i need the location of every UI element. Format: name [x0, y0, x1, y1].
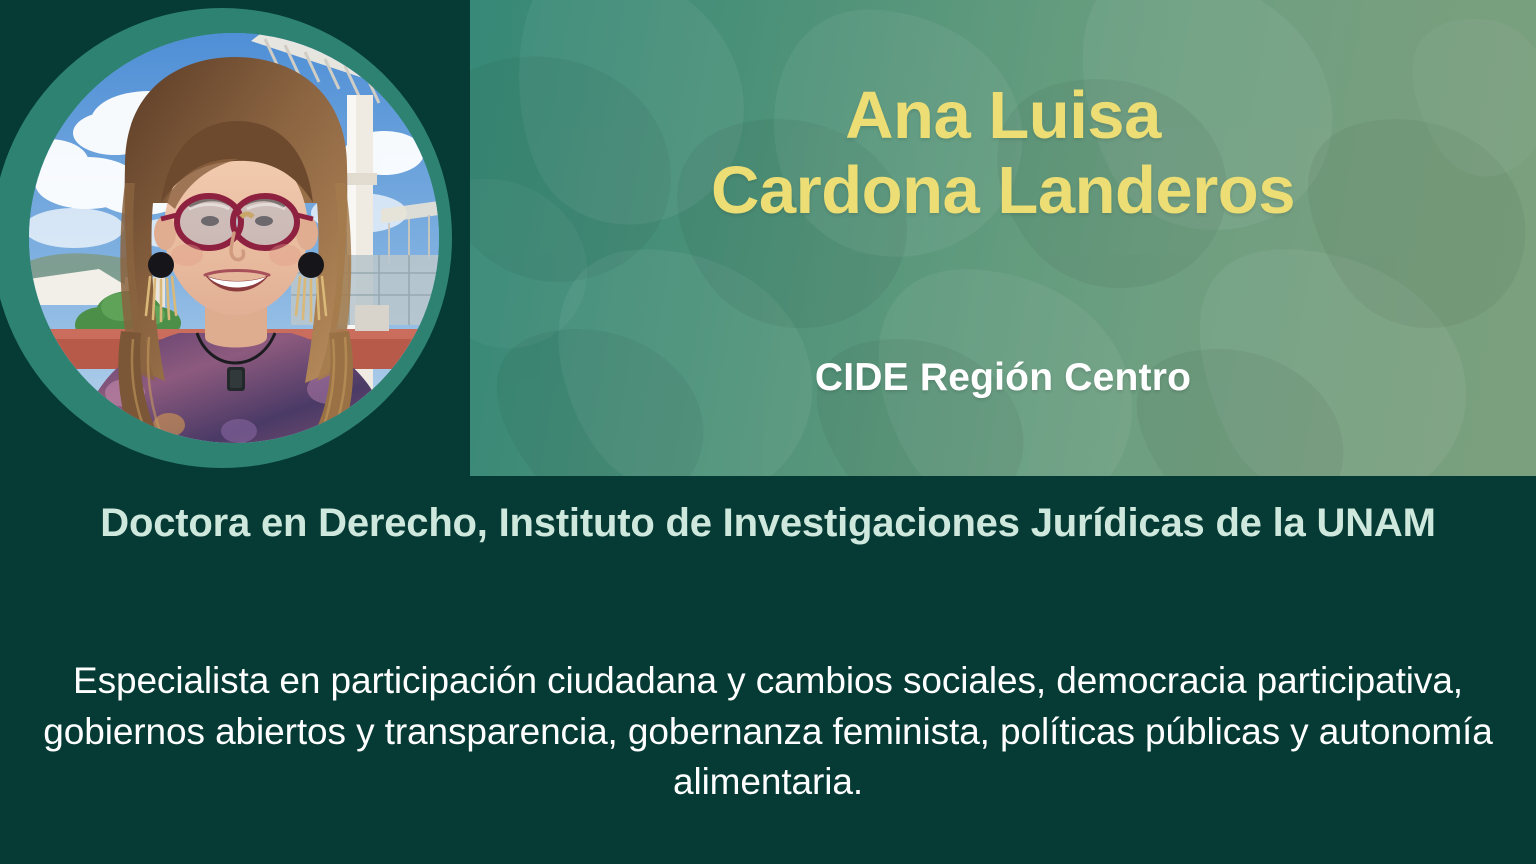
- speaker-degree: Doctora en Derecho, Instituto de Investi…: [40, 498, 1496, 548]
- speaker-specialty: Especialista en participación ciudadana …: [40, 656, 1496, 808]
- speaker-name-line-2: Cardona Landeros: [470, 153, 1536, 228]
- speaker-name-line-1: Ana Luisa: [470, 78, 1536, 153]
- avatar: [29, 33, 439, 443]
- portrait-photo: [29, 33, 439, 443]
- body-area: Doctora en Derecho, Instituto de Investi…: [0, 476, 1536, 864]
- speaker-profile-slide: Ana Luisa Cardona Landeros CIDE Región C…: [0, 0, 1536, 864]
- speaker-name: Ana Luisa Cardona Landeros: [470, 78, 1536, 228]
- header-band: Ana Luisa Cardona Landeros CIDE Región C…: [0, 0, 1536, 476]
- speaker-affiliation: CIDE Región Centro: [470, 356, 1536, 400]
- avatar-ring: [0, 8, 452, 468]
